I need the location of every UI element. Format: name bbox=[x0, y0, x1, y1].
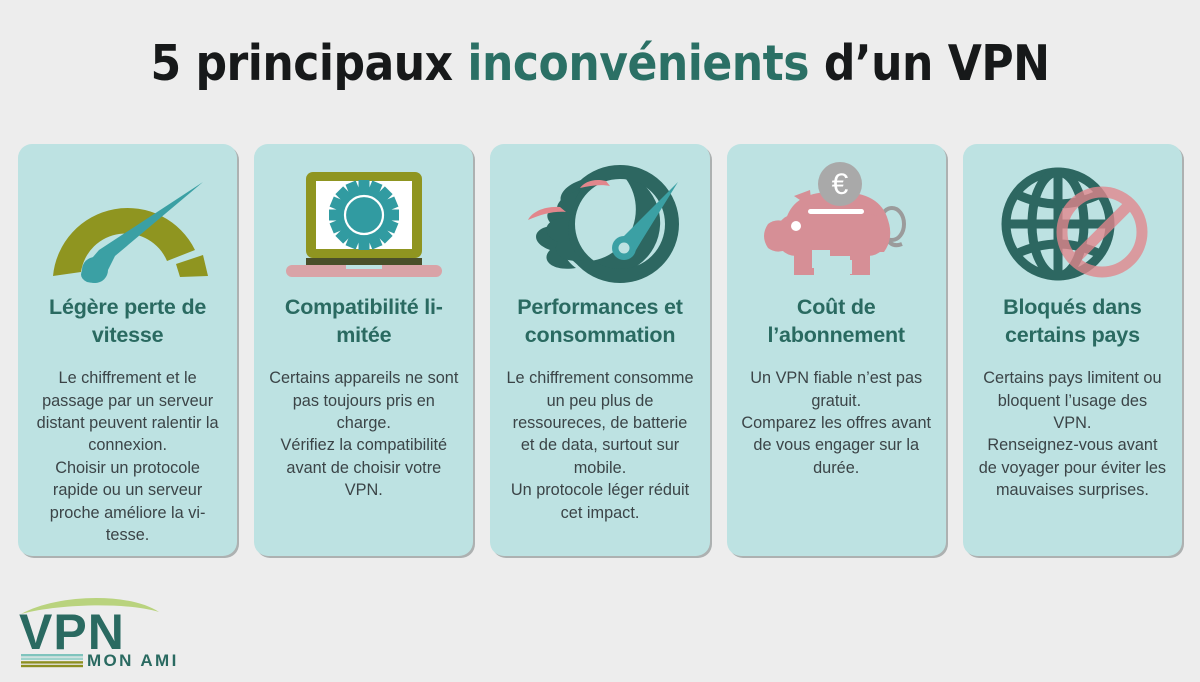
card-compatibility: Compatibilité li-mitée Certains appareil… bbox=[254, 144, 473, 556]
card-speed: Légère perte de vitesse Le chiffrement e… bbox=[18, 144, 237, 556]
card-body: Certains pays limitent ou bloquent l’usa… bbox=[975, 367, 1170, 502]
flaming-gauge-icon bbox=[502, 154, 697, 294]
card-title: Coût de l’abonnement bbox=[739, 294, 934, 349]
laptop-gear-icon bbox=[266, 154, 461, 294]
piggy-bank-euro-icon: € bbox=[739, 154, 934, 294]
svg-text:€: € bbox=[832, 168, 849, 201]
globe-blocked-icon bbox=[975, 154, 1170, 294]
card-blocked: Bloqués dans certains pays Certains pays… bbox=[963, 144, 1182, 556]
card-performance: Performances et consommation Le chiffrem… bbox=[490, 144, 709, 556]
page-title-after: d’un VPN bbox=[809, 35, 1050, 92]
card-body: Un VPN fiable n’est pas gratuit. Compare… bbox=[739, 367, 934, 479]
vpn-mon-ami-logo[interactable]: VPN MON AMI bbox=[17, 592, 217, 670]
card-cost: € Coût de l’abonnement Un VPN fiable n’e… bbox=[727, 144, 946, 556]
speedometer-icon bbox=[30, 154, 225, 294]
cards-row: Légère perte de vitesse Le chiffrement e… bbox=[18, 144, 1182, 556]
card-body: Le chiffrement consomme un peu plus de r… bbox=[502, 367, 697, 524]
page-title-accent: inconvénients bbox=[467, 35, 809, 92]
card-title: Bloqués dans certains pays bbox=[975, 294, 1170, 349]
card-body: Certains appareils ne sont pas toujours … bbox=[266, 367, 461, 502]
card-body: Le chiffrement et le passage par un serv… bbox=[30, 367, 225, 547]
logo-secondary-text: MON AMI bbox=[87, 651, 179, 670]
card-title: Performances et consommation bbox=[502, 294, 697, 349]
page-title: 5 principaux inconvénients d’un VPN bbox=[0, 35, 1200, 92]
card-title: Légère perte de vitesse bbox=[30, 294, 225, 349]
card-title: Compatibilité li-mitée bbox=[266, 294, 461, 349]
page-title-before: 5 principaux bbox=[150, 35, 467, 92]
